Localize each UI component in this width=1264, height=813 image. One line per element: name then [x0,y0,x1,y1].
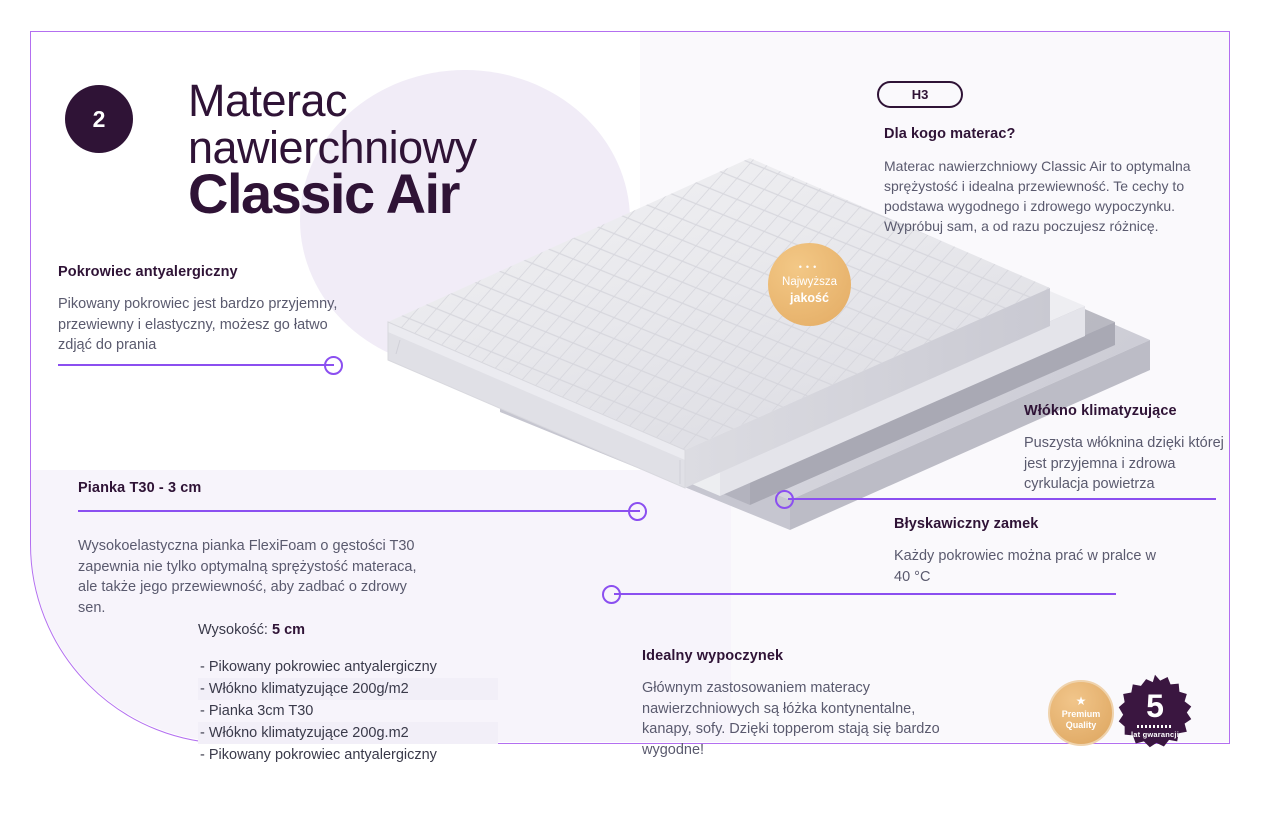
block-pokrowiec-antyalergiczny: Pokrowiec antyalergiczny Pikowany pokrow… [58,264,358,356]
block-body: Każdy pokrowiec można prać w pralce w 40… [894,546,1164,587]
quality-seal-line2: jakość [790,290,829,306]
quality-seal-line1: Najwyższa [782,276,837,290]
connector-line-pokrowiec [58,364,334,366]
connector-dot-zamek [602,585,621,604]
specification-list: Wysokość: 5 cm - Pikowany pokrowiec anty… [198,622,498,766]
premium-quality-badge: ★ Premium Quality [1048,680,1114,746]
premium-badge-line2: Quality [1066,720,1097,731]
star-icon: ★ [1076,695,1087,707]
connector-line-pianka [78,510,640,512]
warranty-number: 5 [1146,690,1164,722]
list-item: - Pikowany pokrowiec antyalergiczny [198,744,498,766]
block-idealny-wypoczynek: Idealny wypoczynek Głównym zastosowaniem… [642,648,962,760]
quality-seal-badge: ••• Najwyższa jakość [768,243,851,326]
h3-chip-label: H3 [912,87,929,102]
block-body: Pikowany pokrowiec jest bardzo przyjemny… [58,294,358,356]
block-body: Wysokoelastyczna pianka FlexiFoam o gęst… [78,536,418,618]
warranty-badge: 5 lat gwarancji [1118,674,1192,748]
connector-dot-pianka [628,502,647,521]
block-body: Głównym zastosowaniem materacy nawierzch… [642,678,962,760]
connector-line-zamek [614,593,1116,595]
block-dla-kogo-materac: Dla kogo materac? Materac nawierzchniowy… [884,126,1204,237]
spec-height-value: 5 cm [272,622,305,638]
title-line-1: Materac [188,78,708,123]
block-heading: Pianka T30 - 3 cm [78,480,418,496]
list-item: - Pikowany pokrowiec antyalergiczny [198,656,498,678]
block-heading: Idealny wypoczynek [642,648,962,664]
block-heading: Pokrowiec antyalergiczny [58,264,358,280]
h3-tag-chip: H3 [877,81,963,108]
connector-dot-pokrowiec [324,356,343,375]
block-blyskawiczny-zamek: Błyskawiczny zamek Każdy pokrowiec można… [894,516,1164,587]
premium-badge-line1: Premium [1062,709,1101,720]
block-heading: Błyskawiczny zamek [894,516,1164,532]
list-item: - Włókno klimatyzujące 200g/m2 [198,678,498,700]
block-heading: Włókno klimatyzujące [1024,403,1234,419]
warranty-divider [1137,725,1173,728]
step-number-text: 2 [93,106,106,133]
title-line-3: Classic Air [188,166,708,222]
list-item: - Pianka 3cm T30 [198,700,498,722]
block-pianka-t30: Pianka T30 - 3 cm Wysokoelastyczna piank… [78,480,418,618]
spec-layer-list: - Pikowany pokrowiec antyalergiczny - Wł… [198,656,498,766]
infographic-page: 2 Materac nawierchniowy Classic Air H3 D… [0,0,1264,813]
block-body: Materac nawierzchniowy Classic Air to op… [884,156,1204,237]
spec-height-label: Wysokość: [198,622,268,638]
block-body: Puszysta włóknina dzięki której jest prz… [1024,433,1234,495]
list-item: - Włókno klimatyzujące 200g.m2 [198,722,498,744]
spec-height-row: Wysokość: 5 cm [198,622,498,638]
connector-line-wlokno [788,498,1216,500]
page-title: Materac nawierchniowy Classic Air [188,78,708,222]
block-heading: Dla kogo materac? [884,126,1204,142]
warranty-label: lat gwarancji [1131,730,1179,739]
connector-dot-wlokno [775,490,794,509]
step-number-badge: 2 [65,85,133,153]
block-wlokno-klimatyzujace: Włókno klimatyzujące Puszysta włóknina d… [1024,403,1234,495]
three-dots-icon: ••• [799,263,820,272]
